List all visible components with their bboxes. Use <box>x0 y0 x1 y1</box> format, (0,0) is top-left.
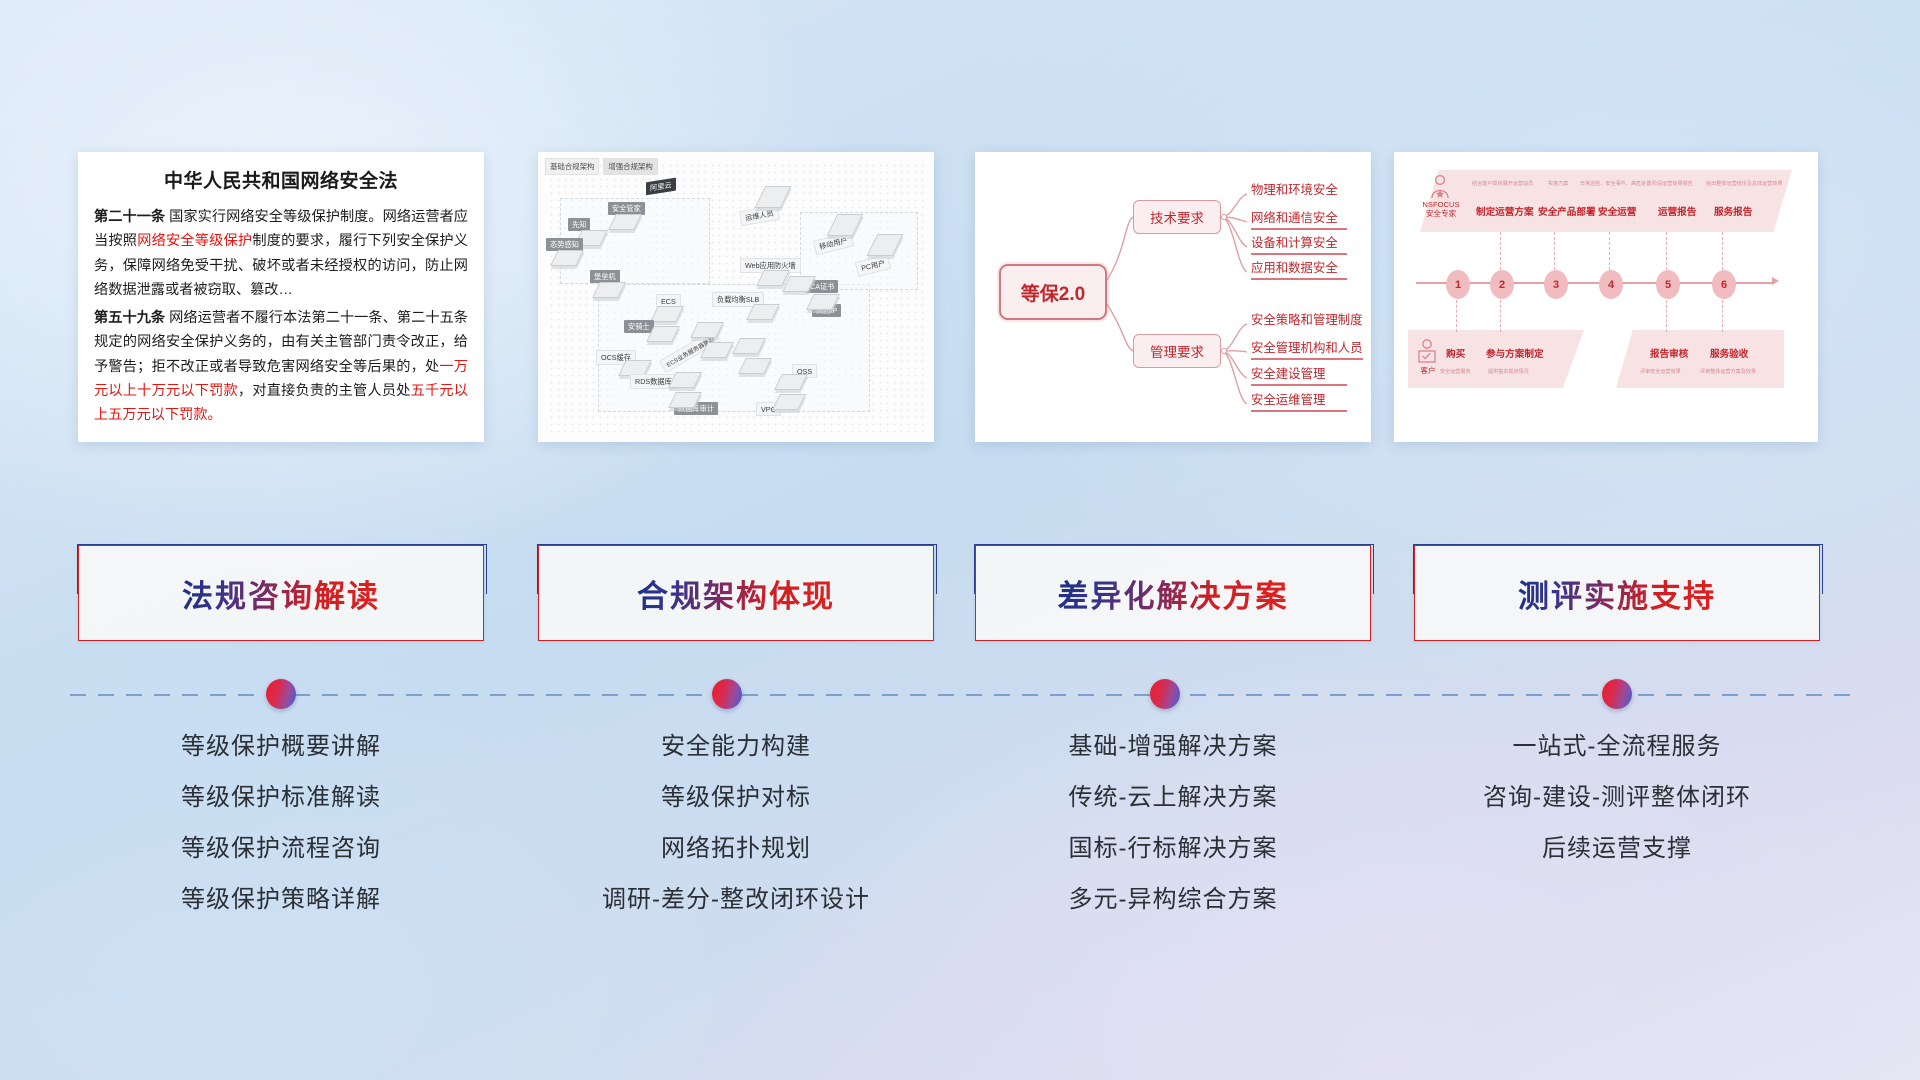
flow-connector-b1 <box>1456 300 1457 332</box>
headline-box-assessment-support[interactable]: 测评实施支持 <box>1414 545 1820 641</box>
person-star-icon <box>1428 174 1452 200</box>
flow-step-title-3: 安全产品部署 <box>1538 204 1596 218</box>
flow-bottom-title-4: 服务验收 <box>1710 346 1748 360</box>
mindmap-leaf-app-data: 应用和数据安全 <box>1251 258 1347 280</box>
flow-bottom-title-2: 参与方案制定 <box>1486 346 1544 360</box>
mindmap-leaf-org-personnel: 安全管理机构和人员 <box>1251 338 1363 360</box>
mindmap-root-node: 等保2.0 <box>999 264 1107 320</box>
flow-bottom-sub-4: 评审整体运营方案及效果 <box>1700 368 1756 375</box>
list-item: 安全能力构建 <box>538 735 934 759</box>
law-text-block: 中华人民共和国网络安全法 第二十一条 国家实行网络安全等级保护制度。网络运营者应… <box>78 152 484 441</box>
law-title: 中华人民共和国网络安全法 <box>94 166 468 193</box>
architecture-tabs: 基础合规架构 增强合规架构 <box>545 158 658 175</box>
flow-step-title-4: 安全运营 <box>1598 204 1636 218</box>
list-item: 多元-异构综合方案 <box>975 888 1371 912</box>
article-21-highlight: 网络安全等级保护 <box>137 233 252 249</box>
flow-step-node-4[interactable]: 4 <box>1599 270 1623 299</box>
headline-row: 法规咨询解读 合规架构体现 差异化解决方案 测评实施支持 <box>0 545 1920 641</box>
flow-connector-6 <box>1722 232 1723 270</box>
list-item: 等级保护概要讲解 <box>78 735 484 759</box>
headline-box-differentiated-solution[interactable]: 差异化解决方案 <box>975 545 1371 641</box>
headline-label-2: 差异化解决方案 <box>1058 571 1289 616</box>
mindmap-leaf-device-compute: 设备和计算安全 <box>1251 233 1347 255</box>
flow-provider-role: 安全专家 <box>1426 209 1456 218</box>
card-compliance-architecture: 基础合规架构 增强合规架构 阿里云 安全管家 先知 态势感知 堡垒机 ECS 安… <box>538 152 934 442</box>
list-item: 调研-差分-整改闭环设计 <box>538 888 934 912</box>
flow-step-sub-2: 结合客户现状展开运营动员 <box>1472 180 1533 187</box>
timeline-dot-1[interactable] <box>266 679 296 709</box>
flow-connector-5 <box>1666 232 1667 270</box>
flow-step-sub-5: 阶段运营效果报告 <box>1652 180 1693 187</box>
flow-step-node-6[interactable]: 6 <box>1712 270 1736 299</box>
service-flow-diagram: NSFOCUS 安全专家 客户 1 2 3 4 5 6 结合客户现状展开运营动员 <box>1394 152 1818 442</box>
headline-label-3: 测评实施支持 <box>1518 571 1716 616</box>
bullet-column-2: 基础-增强解决方案 传统-云上解决方案 国标-行标解决方案 多元-异构综合方案 <box>975 735 1371 939</box>
flow-connector-b5 <box>1666 300 1667 332</box>
flow-connector-b2 <box>1500 300 1501 332</box>
flow-step-sub-6: 给出整体运营结论及总体运营效果 <box>1706 180 1782 187</box>
bullet-column-0: 等级保护概要讲解 等级保护标准解读 等级保护流程咨询 等级保护策略详解 <box>78 735 484 939</box>
flow-provider-actor: NSFOCUS 安全专家 <box>1412 200 1470 219</box>
flow-step-title-2: 制定运营方案 <box>1476 204 1534 218</box>
list-item: 传统-云上解决方案 <box>975 786 1371 810</box>
flow-step-node-5[interactable]: 5 <box>1656 270 1680 299</box>
tab-basic-architecture[interactable]: 基础合规架构 <box>545 158 599 175</box>
slide-root: 中华人民共和国网络安全法 第二十一条 国家实行网络安全等级保护制度。网络运营者应… <box>0 0 1920 1080</box>
flow-bottom-title-1: 购买 <box>1446 346 1465 360</box>
list-item: 基础-增强解决方案 <box>975 735 1371 759</box>
card-dengbao-mindmap: 等保2.0 技术要求 管理要求 物理和环境安全 网络和通信安全 设备和计算安全 … <box>975 152 1371 442</box>
mindmap-leaf-construction-mgmt: 安全建设管理 <box>1251 364 1347 386</box>
bullet-column-1: 安全能力构建 等级保护对标 网络拓扑规划 调研-差分-整改闭环设计 <box>538 735 934 939</box>
flow-step-sub-4: 日常巡检、安全事件、高危处置 <box>1580 180 1651 187</box>
mindmap-leaf-policy-system: 安全策略和管理制度 <box>1251 310 1363 330</box>
timeline-dot-3[interactable] <box>1150 679 1180 709</box>
flow-step-node-3[interactable]: 3 <box>1544 270 1568 299</box>
article-21-label: 第二十一条 <box>94 209 165 225</box>
timeline <box>70 693 1850 697</box>
flow-bottom-sub-3: 评审安全运营效果 <box>1640 368 1681 375</box>
flow-connector-4 <box>1609 232 1610 270</box>
timeline-dot-2[interactable] <box>712 679 742 709</box>
list-item: 咨询-建设-测评整体闭环 <box>1414 786 1820 810</box>
mindmap-leaf-ops-mgmt: 安全运维管理 <box>1251 390 1347 412</box>
list-item: 等级保护标准解读 <box>78 786 484 810</box>
flow-bottom-title-3: 报告审核 <box>1650 346 1688 360</box>
list-item: 等级保护流程咨询 <box>78 837 484 861</box>
law-article-59: 第五十九条 网络运营者不履行本法第二十一条、第二十五条规定的网络安全保护义务的，… <box>94 306 468 428</box>
tab-enhanced-architecture[interactable]: 增强合规架构 <box>603 158 657 175</box>
cards-row: 中华人民共和国网络安全法 第二十一条 国家实行网络安全等级保护制度。网络运营者应… <box>0 152 1920 452</box>
node-label-anqishi: 安骑士 <box>624 320 654 333</box>
timeline-dashed-line <box>70 694 1850 696</box>
bullet-column-3: 一站式-全流程服务 咨询-建设-测评整体闭环 后续运营支撑 <box>1414 735 1820 888</box>
flow-bottom-sub-1: 安全运营服务 <box>1440 368 1471 375</box>
flow-step-title-6: 服务报告 <box>1714 204 1752 218</box>
list-item: 网络拓扑规划 <box>538 837 934 861</box>
mindmap: 等保2.0 技术要求 管理要求 物理和环境安全 网络和通信安全 设备和计算安全 … <box>975 152 1371 442</box>
person-check-icon <box>1416 338 1438 364</box>
flow-connector-3 <box>1554 232 1555 270</box>
flow-axis-arrow-icon <box>1772 277 1779 285</box>
card-nsfocus-service-flow: NSFOCUS 安全专家 客户 1 2 3 4 5 6 结合客户现状展开运营动员 <box>1394 152 1818 442</box>
list-item: 一站式-全流程服务 <box>1414 735 1820 759</box>
article-59-text-b: ，对直接负责的主管人员处 <box>238 383 411 399</box>
mindmap-branch-management: 管理要求 <box>1133 334 1221 368</box>
list-item: 等级保护对标 <box>538 786 934 810</box>
architecture-diagram: 基础合规架构 增强合规架构 阿里云 安全管家 先知 态势感知 堡垒机 ECS 安… <box>538 152 934 442</box>
flow-step-title-5: 运营报告 <box>1658 204 1696 218</box>
article-59-label: 第五十九条 <box>94 310 165 326</box>
card-cybersecurity-law: 中华人民共和国网络安全法 第二十一条 国家实行网络安全等级保护制度。网络运营者应… <box>78 152 484 442</box>
flow-step-node-1[interactable]: 1 <box>1446 270 1470 299</box>
headline-box-compliance-architecture[interactable]: 合规架构体现 <box>538 545 934 641</box>
headline-label-1: 合规架构体现 <box>637 571 835 616</box>
list-item: 后续运营支撑 <box>1414 837 1820 861</box>
list-item: 国标-行标解决方案 <box>975 837 1371 861</box>
headline-box-regulation-consulting[interactable]: 法规咨询解读 <box>78 545 484 641</box>
headline-label-0: 法规咨询解读 <box>182 571 380 616</box>
mindmap-leaf-physical-env: 物理和环境安全 <box>1251 180 1347 200</box>
law-article-21: 第二十一条 国家实行网络安全等级保护制度。网络运营者应当按照网络安全等级保护制度… <box>94 205 468 303</box>
bullet-columns: 等级保护概要讲解 等级保护标准解读 等级保护流程咨询 等级保护策略详解 安全能力… <box>0 735 1920 965</box>
mindmap-leaf-network-comm: 网络和通信安全 <box>1251 208 1347 230</box>
mindmap-branch-technical: 技术要求 <box>1133 200 1221 234</box>
flow-connector-2 <box>1500 232 1501 270</box>
timeline-dot-4[interactable] <box>1602 679 1632 709</box>
flow-provider-name: NSFOCUS <box>1422 200 1459 209</box>
list-item: 等级保护策略详解 <box>78 888 484 912</box>
flow-step-sub-3: 实施方案 <box>1548 180 1568 187</box>
flow-bottom-sub-2: 提供基本现状情况 <box>1488 368 1529 375</box>
flow-step-node-2[interactable]: 2 <box>1490 270 1514 299</box>
flow-band-customer-right <box>1616 330 1784 388</box>
flow-connector-b6 <box>1722 300 1723 332</box>
